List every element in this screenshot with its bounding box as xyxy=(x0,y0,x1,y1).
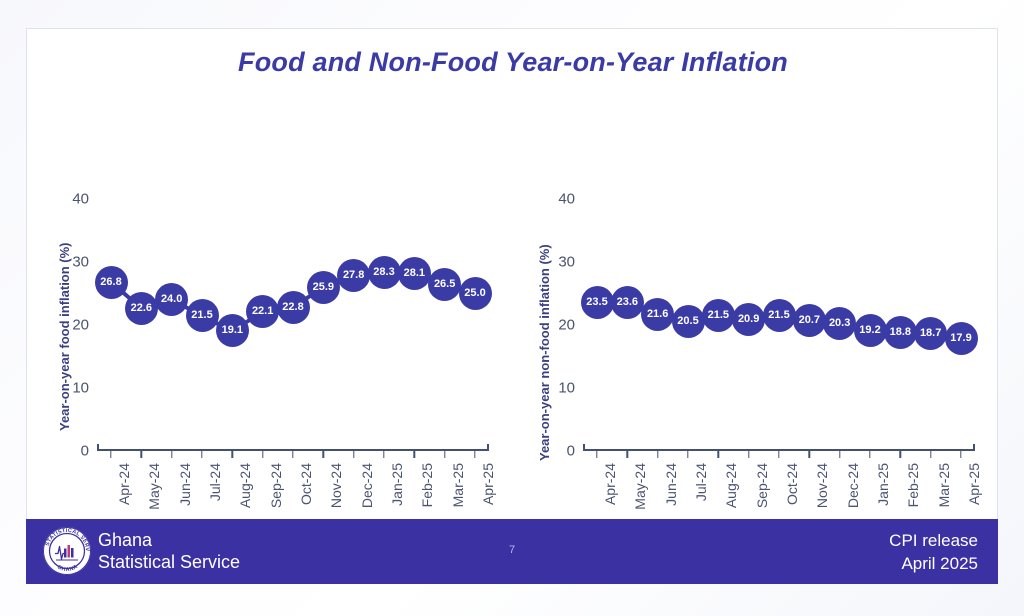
data-point-marker: 21.6 xyxy=(641,298,674,331)
data-point-marker: 20.9 xyxy=(732,303,765,336)
x-axis-end-cap xyxy=(487,444,489,451)
x-tick-label: Jul-24 xyxy=(207,463,223,501)
data-point-marker: 25.9 xyxy=(307,271,340,304)
page-title: Food and Non-Food Year-on-Year Inflation xyxy=(27,47,999,78)
x-axis-line xyxy=(583,449,975,451)
data-point-marker: 25.0 xyxy=(459,277,492,310)
x-tick-label: Mar-25 xyxy=(450,463,466,507)
y-tick-label: 10 xyxy=(72,380,89,397)
x-tick-mark xyxy=(900,451,901,458)
data-point-marker: 28.1 xyxy=(398,257,431,290)
data-point-marker: 28.3 xyxy=(368,256,401,289)
data-point-marker: 22.1 xyxy=(246,295,279,328)
x-axis-end-cap xyxy=(973,444,975,451)
x-tick-label: Apr-25 xyxy=(966,463,982,505)
x-tick-label: May-24 xyxy=(632,463,648,510)
x-tick-label: Apr-24 xyxy=(116,463,132,505)
x-tick-mark xyxy=(596,451,597,458)
data-point-marker: 19.2 xyxy=(854,314,887,347)
x-tick-label: Sep-24 xyxy=(268,463,284,508)
x-tick-label: Jul-24 xyxy=(693,463,709,501)
data-point-marker: 20.5 xyxy=(672,305,705,338)
x-tick-label: Oct-24 xyxy=(784,463,800,505)
x-tick-label: Jan-25 xyxy=(389,463,405,506)
data-point-marker: 26.5 xyxy=(428,268,461,301)
x-tick-mark xyxy=(262,451,263,458)
x-tick-mark xyxy=(353,451,354,458)
release-info: CPI release April 2025 xyxy=(889,529,978,575)
x-tick-mark xyxy=(414,451,415,458)
x-tick-mark xyxy=(474,451,475,458)
x-tick-mark xyxy=(869,451,870,458)
x-tick-label: Dec-24 xyxy=(845,463,861,508)
x-tick-label: Dec-24 xyxy=(359,463,375,508)
plot-area-food: 010203040Apr-24May-24Jun-24Jul-24Aug-24S… xyxy=(97,199,489,451)
x-tick-mark xyxy=(383,451,384,458)
data-point-marker: 22.6 xyxy=(125,292,158,325)
y-tick-label: 30 xyxy=(72,254,89,271)
x-tick-mark xyxy=(809,451,810,458)
y-tick-label: 40 xyxy=(72,191,89,208)
data-point-marker: 22.8 xyxy=(277,291,310,324)
data-point-marker: 23.6 xyxy=(611,286,644,319)
y-tick-label: 20 xyxy=(558,317,575,334)
y-tick-label: 0 xyxy=(81,443,89,460)
x-tick-mark xyxy=(292,451,293,458)
page-number: 7 xyxy=(26,544,998,556)
y-tick-label: 30 xyxy=(558,254,575,271)
data-point-marker: 19.1 xyxy=(216,314,249,347)
data-point-marker: 20.3 xyxy=(823,307,856,340)
y-tick-label: 0 xyxy=(567,443,575,460)
x-tick-label: Nov-24 xyxy=(814,463,830,508)
data-point-marker: 17.9 xyxy=(945,322,978,355)
x-tick-label: Apr-24 xyxy=(602,463,618,505)
x-tick-mark xyxy=(718,451,719,458)
x-tick-mark xyxy=(323,451,324,458)
x-tick-mark xyxy=(444,451,445,458)
y-axis-label-food: Year-on-year food inflation (%) xyxy=(57,211,72,431)
x-tick-mark xyxy=(687,451,688,458)
x-tick-label: Nov-24 xyxy=(328,463,344,508)
x-tick-label: Apr-25 xyxy=(480,463,496,505)
y-tick-label: 20 xyxy=(72,317,89,334)
x-tick-mark xyxy=(201,451,202,458)
data-point-marker: 21.5 xyxy=(702,299,735,332)
x-tick-label: Aug-24 xyxy=(723,463,739,508)
x-axis-line xyxy=(97,449,489,451)
plot-area-non-food: 010203040Apr-24May-24Jun-24Jul-24Aug-24S… xyxy=(583,199,975,451)
x-tick-label: Aug-24 xyxy=(237,463,253,508)
x-tick-mark xyxy=(657,451,658,458)
x-tick-label: Feb-25 xyxy=(419,463,435,507)
x-axis-end-cap xyxy=(97,444,99,451)
x-tick-label: Oct-24 xyxy=(298,463,314,505)
x-tick-mark xyxy=(839,451,840,458)
x-tick-mark xyxy=(171,451,172,458)
data-point-marker: 18.7 xyxy=(914,317,947,350)
x-tick-label: Jun-24 xyxy=(663,463,679,506)
data-point-marker: 21.5 xyxy=(186,299,219,332)
slide-canvas: Food and Non-Food Year-on-Year Inflation… xyxy=(26,28,998,584)
x-tick-mark xyxy=(141,451,142,458)
x-tick-label: Jun-24 xyxy=(177,463,193,506)
x-tick-label: Feb-25 xyxy=(905,463,921,507)
data-point-marker: 27.8 xyxy=(337,259,370,292)
y-tick-label: 10 xyxy=(558,380,575,397)
x-tick-mark xyxy=(232,451,233,458)
x-tick-mark xyxy=(627,451,628,458)
x-tick-mark xyxy=(960,451,961,458)
x-tick-mark xyxy=(930,451,931,458)
x-tick-label: Sep-24 xyxy=(754,463,770,508)
x-tick-mark xyxy=(110,451,111,458)
data-point-marker: 24.0 xyxy=(155,283,188,316)
x-tick-label: Jan-25 xyxy=(875,463,891,506)
x-axis-end-cap xyxy=(583,444,585,451)
x-tick-mark xyxy=(748,451,749,458)
x-tick-mark xyxy=(778,451,779,458)
y-tick-label: 40 xyxy=(558,191,575,208)
y-axis-label-non-food: Year-on-year non-food inflation (%) xyxy=(537,241,552,461)
data-point-marker: 20.7 xyxy=(793,304,826,337)
chart-food-inflation: Year-on-year food inflation (%) 01020304… xyxy=(27,169,513,529)
data-point-marker: 26.8 xyxy=(95,266,128,299)
x-tick-label: May-24 xyxy=(146,463,162,510)
data-point-marker: 23.5 xyxy=(581,286,614,319)
data-point-marker: 18.8 xyxy=(884,316,917,349)
chart-non-food-inflation: Year-on-year non-food inflation (%) 0102… xyxy=(513,169,999,529)
slide-footer: STATISTICAL SERVICE GHANA Ghana Statisti… xyxy=(26,519,998,584)
x-tick-label: Mar-25 xyxy=(936,463,952,507)
data-point-marker: 21.5 xyxy=(763,299,796,332)
